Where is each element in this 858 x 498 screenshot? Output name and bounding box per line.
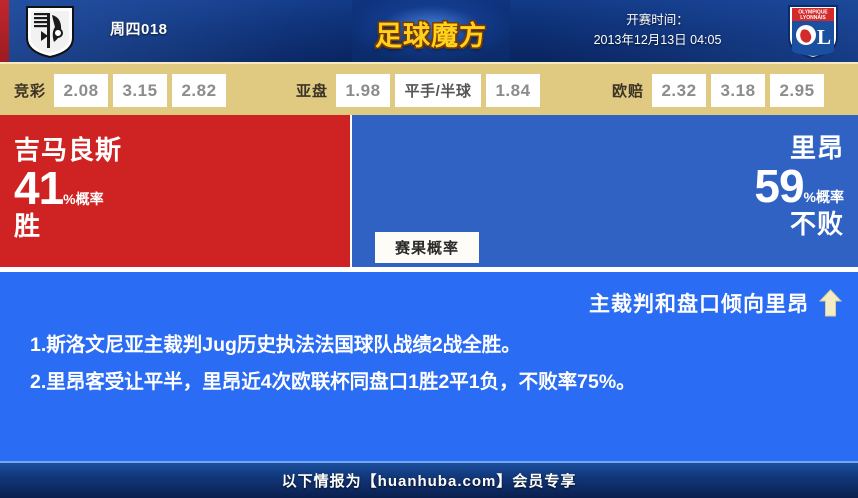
probability-row: 吉马良斯 41%概率 胜 里昂 59%概率 不败 赛果概率 本场比赛吉马良斯获胜… — [0, 115, 858, 267]
odds-group-jingcai[interactable]: 竞彩 2.08 3.15 2.82 — [14, 64, 231, 117]
odds-cell-draw[interactable]: 3.18 — [711, 74, 765, 107]
kickoff-value: 2013年12月13日 04:05 — [560, 30, 755, 50]
odds-cell-handicap[interactable]: 平手/半球 — [395, 74, 481, 107]
away-probability-block: 里昂 59%概率 不败 — [754, 133, 844, 239]
match-number: 周四018 — [110, 18, 168, 39]
odds-group-label: 欧赔 — [612, 80, 644, 101]
arrow-up-icon — [819, 289, 842, 317]
analysis-item: 2.里昂客受让平半，里昂近4次欧联杯同盘口1胜2平1负，不败率75%。 — [30, 364, 830, 401]
odds-group-oupei[interactable]: 欧赔 2.32 3.18 2.95 — [612, 64, 829, 117]
odds-cell-home[interactable]: 2.08 — [54, 74, 108, 107]
header-accent-bar — [0, 0, 9, 62]
odds-group-label: 竞彩 — [14, 80, 46, 101]
odds-cell-away[interactable]: 1.84 — [486, 74, 540, 107]
footer-text: 以下情报为【huanhuba.com】会员专享 — [282, 470, 577, 491]
away-probability-unit: %概率 — [804, 189, 844, 205]
odds-cell-home[interactable]: 2.32 — [652, 74, 706, 107]
tab-match-probability[interactable]: 赛果概率 — [375, 232, 479, 263]
odds-cell-away[interactable]: 2.82 — [172, 74, 226, 107]
home-team-name: 吉马良斯 — [14, 135, 122, 165]
match-preview-card: 周四018 足球魔方 开赛时间： 2013年12月13日 04:05 OLYMP… — [0, 0, 858, 498]
away-probability-percent: 59 — [754, 160, 803, 212]
analysis-list: 1.斯洛文尼亚主裁判Jug历史执法法国球队战绩2战全胜。 2.里昂客受让平半，里… — [30, 327, 830, 401]
analysis-headline: 主裁判和盘口倾向里昂 — [589, 288, 809, 318]
analysis-panel: 主裁判和盘口倾向里昂 1.斯洛文尼亚主裁判Jug历史执法法国球队战绩2战全胜。 … — [0, 272, 858, 461]
home-team-crest-icon — [24, 5, 76, 59]
site-logo-text: 足球魔方 — [352, 14, 510, 53]
odds-group-label: 亚盘 — [296, 80, 328, 101]
home-probability-result: 胜 — [14, 211, 122, 241]
svg-text:LYONNAIS: LYONNAIS — [800, 15, 826, 21]
analysis-headline-row: 主裁判和盘口倾向里昂 — [589, 288, 842, 318]
odds-cell-home[interactable]: 1.98 — [336, 74, 390, 107]
footer-bar: 以下情报为【huanhuba.com】会员专享 — [0, 461, 858, 498]
site-logo[interactable]: 足球魔方 — [352, 0, 510, 62]
odds-cell-draw[interactable]: 3.15 — [113, 74, 167, 107]
home-probability-percent: 41 — [14, 162, 63, 214]
home-probability-block: 吉马良斯 41%概率 胜 — [14, 135, 122, 241]
home-probability-value: 41%概率 — [14, 165, 122, 211]
svg-text:L: L — [817, 25, 831, 49]
odds-bar: 竞彩 2.08 3.15 2.82 亚盘 1.98 平手/半球 1.84 欧赔 … — [0, 62, 858, 115]
home-probability-unit: %概率 — [63, 191, 103, 207]
kickoff-label: 开赛时间： — [560, 10, 755, 30]
away-probability-result: 不败 — [754, 209, 844, 239]
analysis-item: 1.斯洛文尼亚主裁判Jug历史执法法国球队战绩2战全胜。 — [30, 327, 830, 364]
away-team-crest-icon: OLYMPIQUE LYONNAIS L — [786, 4, 840, 60]
away-probability-value: 59%概率 — [754, 163, 844, 209]
odds-cell-away[interactable]: 2.95 — [770, 74, 824, 107]
away-team-name: 里昂 — [754, 133, 844, 163]
header-bar: 周四018 足球魔方 开赛时间： 2013年12月13日 04:05 OLYMP… — [0, 0, 858, 62]
odds-group-yapan[interactable]: 亚盘 1.98 平手/半球 1.84 — [296, 64, 545, 117]
kickoff-time: 开赛时间： 2013年12月13日 04:05 — [560, 10, 755, 50]
